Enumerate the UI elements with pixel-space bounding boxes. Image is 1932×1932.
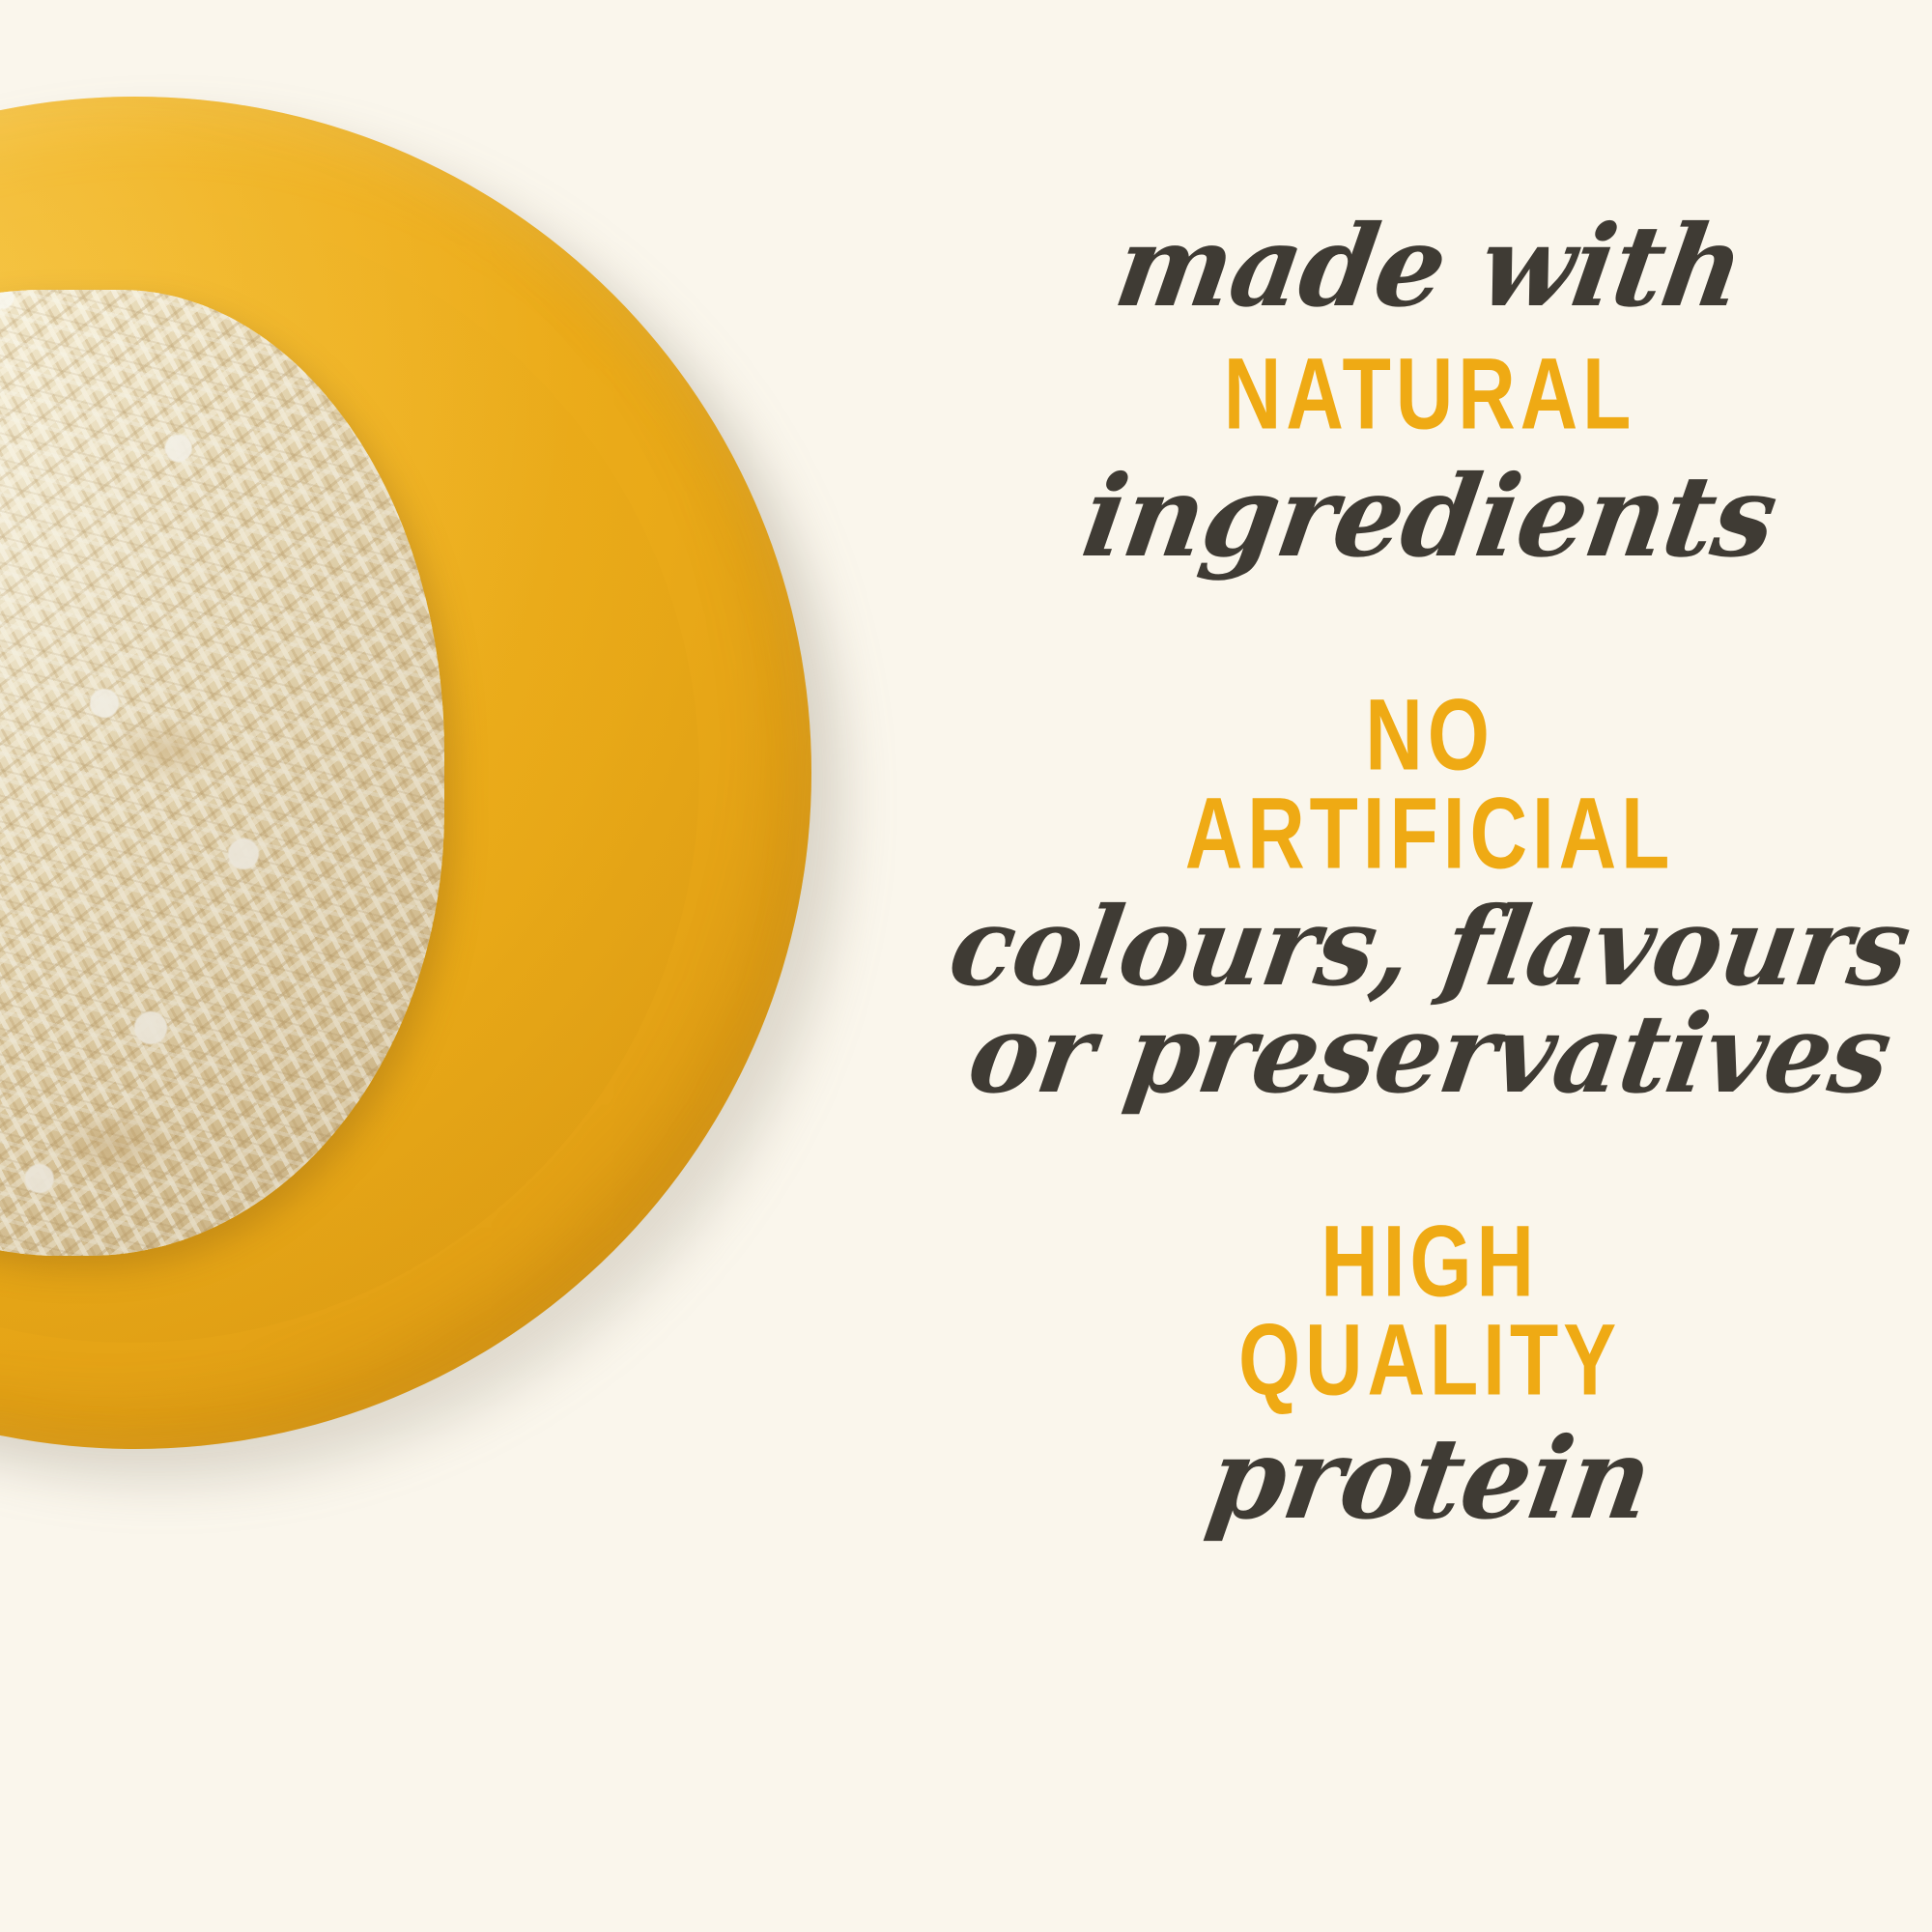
- claim-line-artificial: ARTIFICIAL: [948, 783, 1912, 885]
- claim-natural-ingredients: made with NATURAL ingredients: [927, 214, 1932, 570]
- claims-text-panel: made with NATURAL ingredients NO ARTIFIC…: [927, 0, 1932, 1932]
- food-lighting: [0, 290, 444, 1256]
- claim-high-quality-protein: HIGH QUALITY protein: [927, 1220, 1932, 1532]
- claim-line-colours-flavours: colours, flavours: [939, 896, 1919, 998]
- claim-line-ingredients: ingredients: [934, 465, 1925, 570]
- claim-no-artificial: NO ARTIFICIAL colours, flavours or prese…: [927, 694, 1932, 1106]
- claim-line-quality: QUALITY: [948, 1309, 1912, 1410]
- product-claims-banner: made with NATURAL ingredients NO ARTIFIC…: [0, 0, 1932, 1932]
- claim-line-or-preservatives: or preservatives: [939, 1004, 1919, 1105]
- claim-line-made-with: made with: [934, 214, 1925, 320]
- claim-line-protein: protein: [934, 1427, 1925, 1532]
- claim-line-high: HIGH: [948, 1210, 1912, 1312]
- claim-line-natural: NATURAL: [948, 344, 1912, 445]
- shredded-chicken-and-rice: [0, 290, 444, 1256]
- food-photo: [0, 0, 966, 1932]
- claim-line-no: NO: [948, 685, 1912, 786]
